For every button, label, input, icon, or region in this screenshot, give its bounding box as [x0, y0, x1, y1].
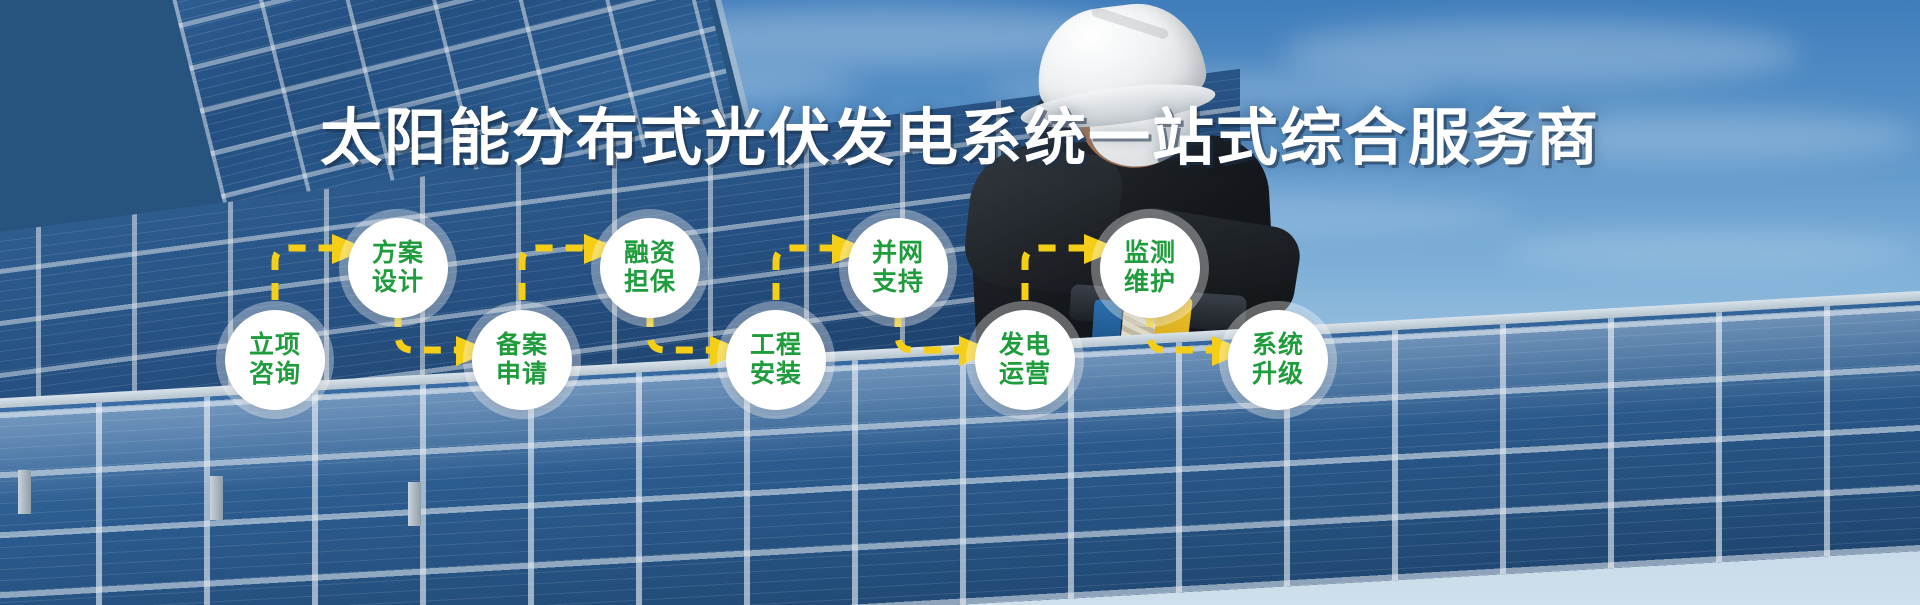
flow-node-7-line1: 发电: [999, 331, 1051, 360]
flow-node-6-line1: 并网: [872, 239, 924, 268]
flow-node-4[interactable]: 融资 担保: [600, 218, 700, 318]
flow-node-5-line1: 工程: [750, 331, 802, 360]
flow-node-3[interactable]: 备案 申请: [472, 310, 572, 410]
flow-node-8-line2: 维护: [1124, 268, 1176, 297]
flow-node-7[interactable]: 发电 运营: [975, 310, 1075, 410]
flow-node-9[interactable]: 系统 升级: [1228, 310, 1328, 410]
page-title: 太阳能分布式光伏发电系统一站式综合服务商: [0, 108, 1920, 170]
flow-node-2-line1: 方案: [372, 239, 424, 268]
flow-node-4-line2: 担保: [624, 268, 676, 297]
flow-node-1-line1: 立项: [249, 331, 301, 360]
rail-post: [18, 470, 31, 514]
flow-node-9-line2: 升级: [1252, 360, 1304, 389]
flow-node-1[interactable]: 立项 咨询: [225, 310, 325, 410]
flow-node-3-line2: 申请: [496, 360, 548, 389]
flow-node-1-line2: 咨询: [249, 360, 301, 389]
flow-node-5[interactable]: 工程 安装: [726, 310, 826, 410]
flow-node-2-line2: 设计: [372, 268, 424, 297]
rail-post: [408, 482, 421, 526]
solar-banner: 太阳能分布式光伏发电系统一站式综合服务商 立项 咨询 方案 设计: [0, 0, 1920, 605]
flow-node-3-line1: 备案: [496, 331, 548, 360]
flow-node-8[interactable]: 监测 维护: [1100, 218, 1200, 318]
cloud: [1500, 230, 1920, 270]
flow-node-7-line2: 运营: [999, 360, 1051, 389]
flow-node-2[interactable]: 方案 设计: [348, 218, 448, 318]
flow-node-4-line1: 融资: [624, 239, 676, 268]
flow-node-6-line2: 支持: [872, 268, 924, 297]
flow-node-9-line1: 系统: [1252, 331, 1304, 360]
flow-node-6[interactable]: 并网 支持: [848, 218, 948, 318]
flow-node-5-line2: 安装: [750, 360, 802, 389]
rail-post: [210, 476, 223, 520]
flow-node-8-line1: 监测: [1124, 239, 1176, 268]
